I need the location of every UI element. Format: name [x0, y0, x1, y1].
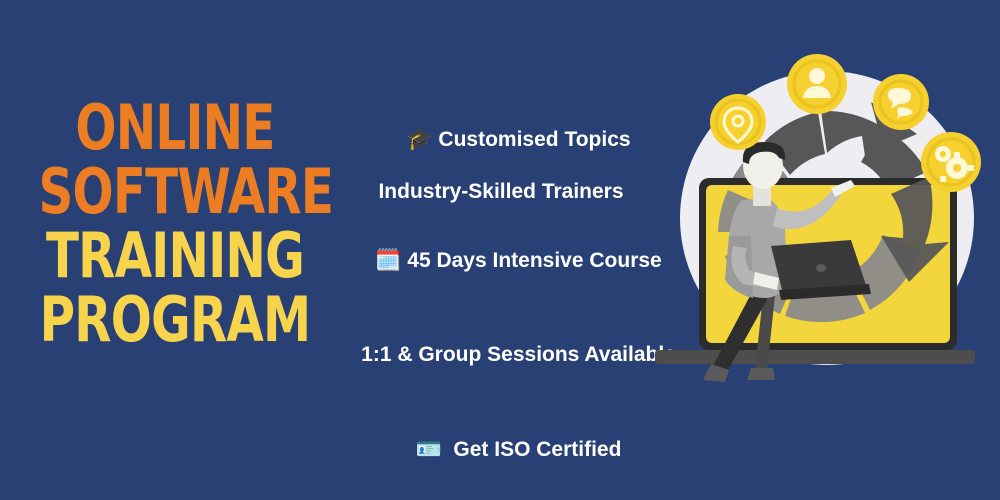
settings-gear-badge [921, 132, 981, 192]
user-profile-badge [787, 54, 847, 114]
held-laptop-logo [816, 264, 826, 272]
feature-label-iso-certified: Get ISO Certified [442, 438, 622, 461]
feature-label-group-sessions: 1:1 & Group Sessions Available [361, 343, 676, 366]
feature-item-group-sessions: 1:1 & Group Sessions Available [318, 316, 684, 394]
chat-bubble-badge [873, 74, 929, 130]
online-training-illustration [655, 50, 1000, 395]
feature-label-45-days-course: 45 Days Intensive Course [401, 249, 661, 272]
page-title: ONLINE SOFTWARE TRAINING PROGRAM [0, 96, 350, 352]
feature-label-customised-topics: Customised Topics [433, 128, 631, 151]
headline-line-2: SOFTWARE [39, 160, 312, 224]
headline-line-4: PROGRAM [39, 288, 312, 352]
feature-item-iso-certified: 🪪 Get ISO Certified [318, 410, 684, 489]
user-icon [809, 68, 825, 84]
calendar-icon: 🗓️ [375, 248, 401, 272]
person-back-shoe [747, 368, 775, 380]
id-badge-icon: 🪪 [416, 437, 442, 461]
feature-subtext-industry-skilled-trainers: Industry-Skilled Trainers [318, 179, 684, 205]
headline-line-1: ONLINE [39, 96, 312, 160]
feature-list: 🎓 Customised Topics Industry-Skilled Tra… [318, 100, 684, 500]
laptop-base [655, 350, 975, 364]
location-pin-badge [710, 94, 766, 150]
illustration-svg [655, 50, 1000, 395]
feature-item-45-days-course: 🗓️ 45 Days Intensive Course [318, 221, 684, 300]
promo-banner: ONLINE SOFTWARE TRAINING PROGRAM 🎓 Custo… [0, 0, 1000, 500]
graduation-cap-icon: 🎓 [406, 127, 432, 151]
feature-item-customised-topics: 🎓 Customised Topics [318, 100, 684, 179]
headline-line-3: TRAINING [39, 224, 312, 288]
